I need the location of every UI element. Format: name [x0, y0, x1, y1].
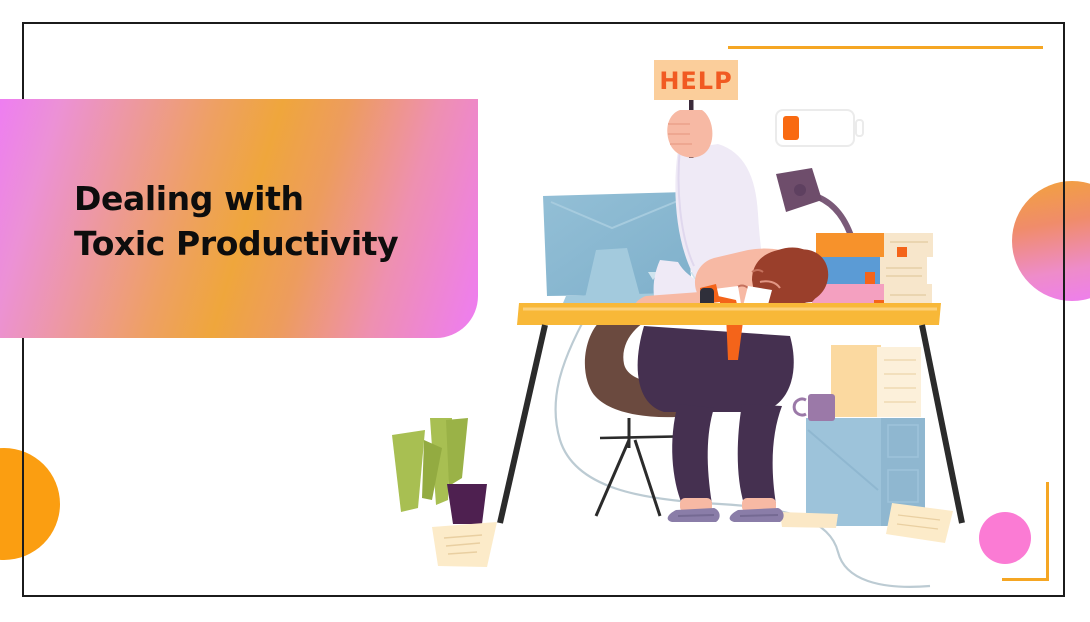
low-battery-icon	[776, 110, 863, 146]
decor-corner-bracket	[1002, 482, 1049, 581]
decor-accent-line	[728, 46, 1043, 49]
page-title: Dealing with Toxic Productivity	[74, 176, 474, 266]
help-sign-icon: HELP	[654, 60, 738, 100]
paper-sheet-under-tower-icon	[780, 512, 838, 528]
coffee-mug-icon	[794, 394, 835, 421]
person-lower-body	[638, 326, 794, 522]
paper-sheet-right-icon	[886, 503, 953, 543]
paper-sheet-left-icon	[432, 522, 497, 567]
svg-text:HELP: HELP	[659, 67, 732, 95]
paper-stack-on-tower-icon	[831, 345, 921, 417]
potted-plant-icon	[392, 418, 487, 524]
poster-canvas: HELP	[0, 0, 1090, 622]
